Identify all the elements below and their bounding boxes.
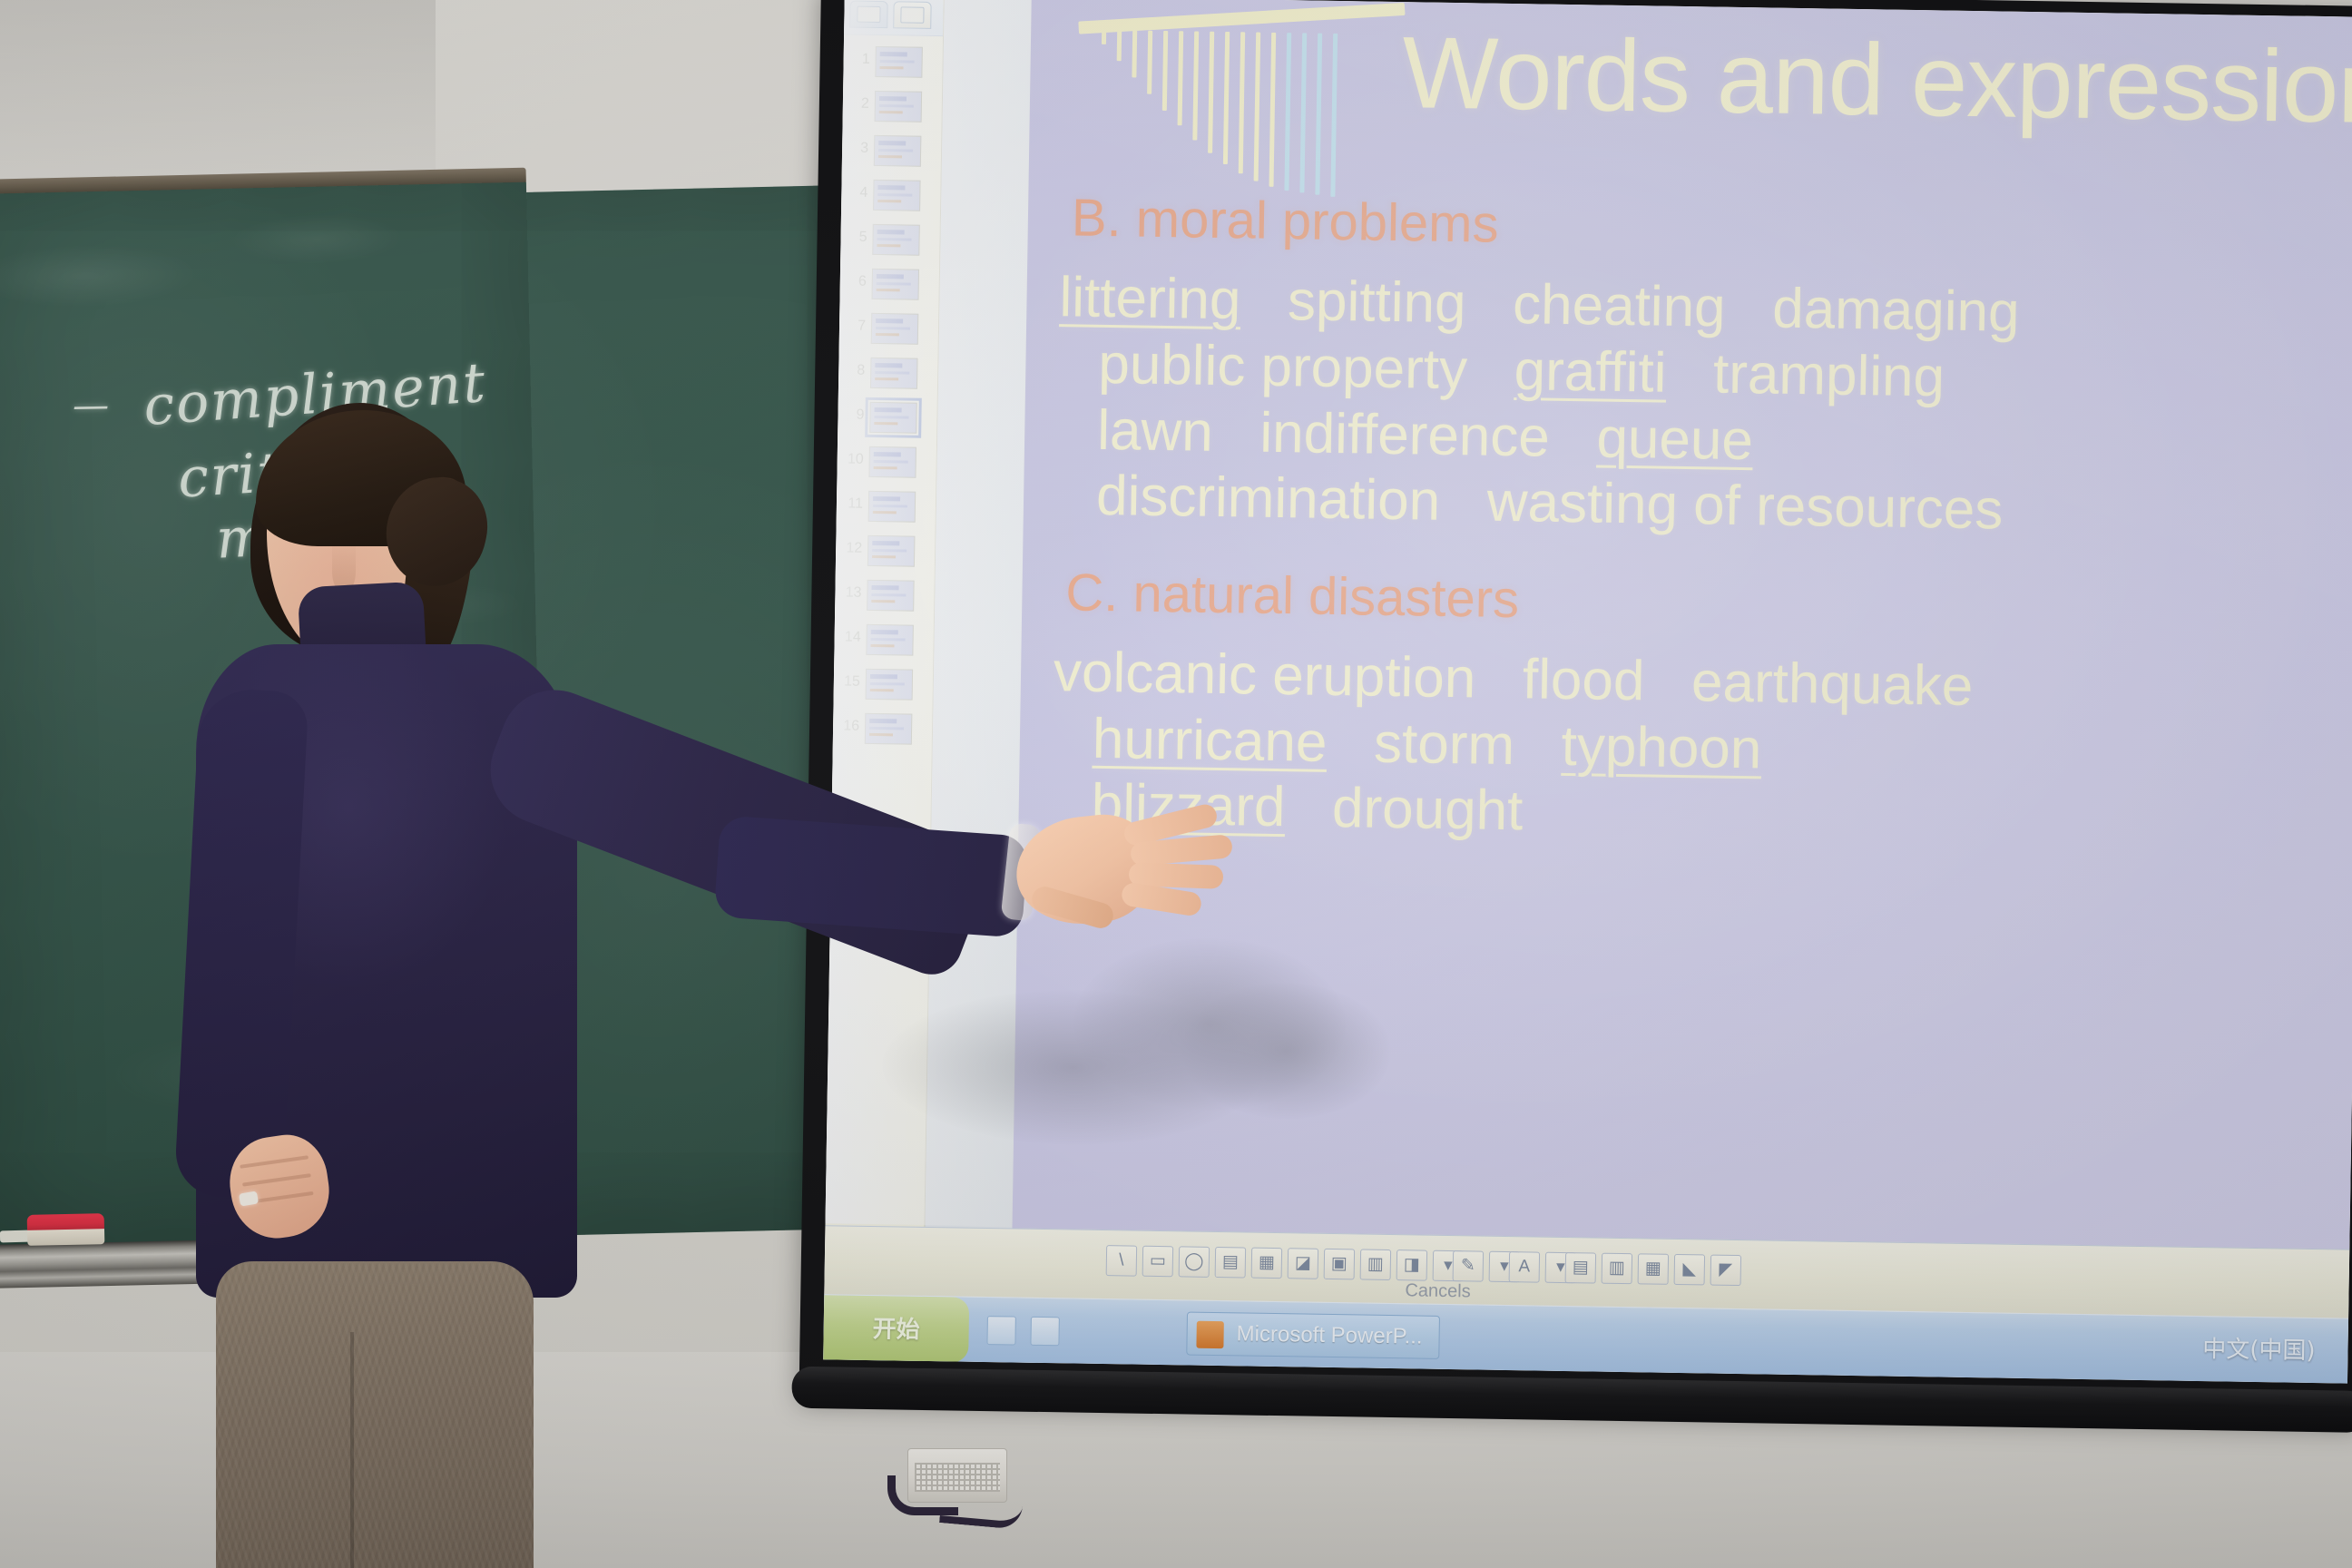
slide-thumbnail[interactable]: 6 xyxy=(839,260,939,307)
font-color-tool[interactable]: A xyxy=(1509,1251,1541,1283)
slide-word: wasting of resources xyxy=(1486,471,2004,542)
slide-thumbnail-preview[interactable] xyxy=(875,46,923,78)
line-style-tool[interactable]: ▤ xyxy=(1565,1252,1597,1284)
slide-thumbnail-number: 3 xyxy=(847,140,868,156)
slide-thumbnail-number: 4 xyxy=(846,184,867,201)
slide-thumbnail-preview[interactable] xyxy=(872,269,920,300)
slide-thumbnail-preview[interactable] xyxy=(873,180,921,211)
diagram-tool[interactable]: ◪ xyxy=(1288,1248,1319,1279)
slide-word: indifference xyxy=(1259,401,1550,468)
right-hand-open-palm xyxy=(1016,797,1216,933)
3d-style-tool[interactable]: ◤ xyxy=(1710,1255,1742,1287)
slide-word: graffiti xyxy=(1514,339,1667,405)
slide-word: queue xyxy=(1596,407,1753,472)
oval-tool[interactable]: ◯ xyxy=(1179,1246,1210,1278)
tweed-trousers xyxy=(216,1261,534,1568)
slide-thumbnail-preview[interactable] xyxy=(872,224,920,256)
fill-color-tool[interactable]: ◨ xyxy=(1396,1249,1428,1281)
arrow-style-tool[interactable]: ▦ xyxy=(1638,1253,1670,1285)
slide-thumbnail[interactable]: 5 xyxy=(840,216,940,262)
slide-thumbnail-number: 7 xyxy=(844,318,866,334)
slides-icon xyxy=(900,6,924,23)
slide-thumbnail-preview[interactable] xyxy=(871,313,919,345)
slide-thumbnail[interactable]: 8 xyxy=(838,349,938,396)
clip-art-tool[interactable]: ▣ xyxy=(1324,1249,1356,1280)
drawing-toolbar-buttons[interactable]: \▭◯▤▦◪▣▥◨▾✎▾A▾▤▥▦◣◤ xyxy=(1105,1236,2295,1311)
slide-thumbnail-number: 5 xyxy=(845,229,867,245)
slide-thumbnail-preview[interactable] xyxy=(874,135,922,167)
thumbnail-pane-tabs xyxy=(844,0,944,36)
slide-thumbnail-preview[interactable] xyxy=(875,91,923,122)
drawing-toolbar-label: Cancels xyxy=(1405,1280,1471,1302)
classroom-scene: — compliment criticism mudsling 12345678… xyxy=(0,0,2352,1568)
dash-style-tool[interactable]: ▥ xyxy=(1602,1253,1633,1285)
slide-thumbnail[interactable]: 3 xyxy=(842,127,942,173)
slide-thumbnail[interactable]: 2 xyxy=(842,83,942,129)
shadow-style-tool[interactable]: ◣ xyxy=(1674,1254,1706,1286)
slide-thumbnail-preview[interactable] xyxy=(870,358,918,389)
slide-word: damaging xyxy=(1772,278,2020,344)
slide-body: B. moral problemslittering spitting chea… xyxy=(1051,187,2352,857)
right-forearm xyxy=(714,815,1029,937)
slide-thumbnail[interactable]: 1 xyxy=(843,38,943,84)
slide-thumbnail-number: 2 xyxy=(848,95,869,112)
slide-word: storm xyxy=(1374,711,1515,776)
language-indicator[interactable]: 中文(中国) xyxy=(2202,1331,2316,1369)
slide-word: flood xyxy=(1522,648,1645,712)
text-box-tool[interactable]: ▤ xyxy=(1215,1247,1247,1279)
slide-title: Words and expressions xyxy=(1402,22,2352,140)
slide-word: spitting xyxy=(1288,270,1467,336)
slide-word: littering xyxy=(1059,267,1241,332)
slide-word: cheating xyxy=(1513,273,1726,339)
powerpoint-icon xyxy=(1196,1321,1223,1348)
slide-thumbnail-number: 1 xyxy=(848,51,870,67)
wordart-tool[interactable]: ▦ xyxy=(1251,1248,1283,1279)
line-color-tool[interactable]: ✎ xyxy=(1453,1250,1485,1282)
slide-word: drought xyxy=(1332,777,1524,842)
tab-outline[interactable] xyxy=(849,1,887,29)
tab-slides[interactable] xyxy=(893,1,931,29)
slide-word: earthquake xyxy=(1691,651,1974,718)
teacher-presenter xyxy=(172,390,1180,1568)
insert-picture-tool[interactable]: ▥ xyxy=(1360,1249,1392,1281)
chalk-stub[interactable] xyxy=(0,1230,31,1243)
chalk-dash: — xyxy=(73,385,112,427)
slide-thumbnail-number: 6 xyxy=(845,273,867,289)
slide-decor-bars xyxy=(1099,30,1347,197)
slide-word: trampling xyxy=(1713,342,1945,408)
chalkboard-eraser[interactable] xyxy=(27,1213,105,1246)
slide-thumbnail-number: 8 xyxy=(843,362,865,378)
slide-thumbnail[interactable]: 4 xyxy=(841,171,941,218)
outline-icon xyxy=(857,6,880,23)
slide-thumbnail[interactable]: 7 xyxy=(839,305,939,351)
taskbar-item-powerpoint[interactable]: Microsoft PowerP... xyxy=(1186,1312,1440,1359)
wall-mounted-speaker-outlet xyxy=(907,1448,1007,1503)
current-slide[interactable]: Words and expressions B. moral problemsl… xyxy=(1012,0,2352,1249)
slide-word: typhoon xyxy=(1561,714,1762,779)
trouser-seam xyxy=(350,1332,354,1568)
